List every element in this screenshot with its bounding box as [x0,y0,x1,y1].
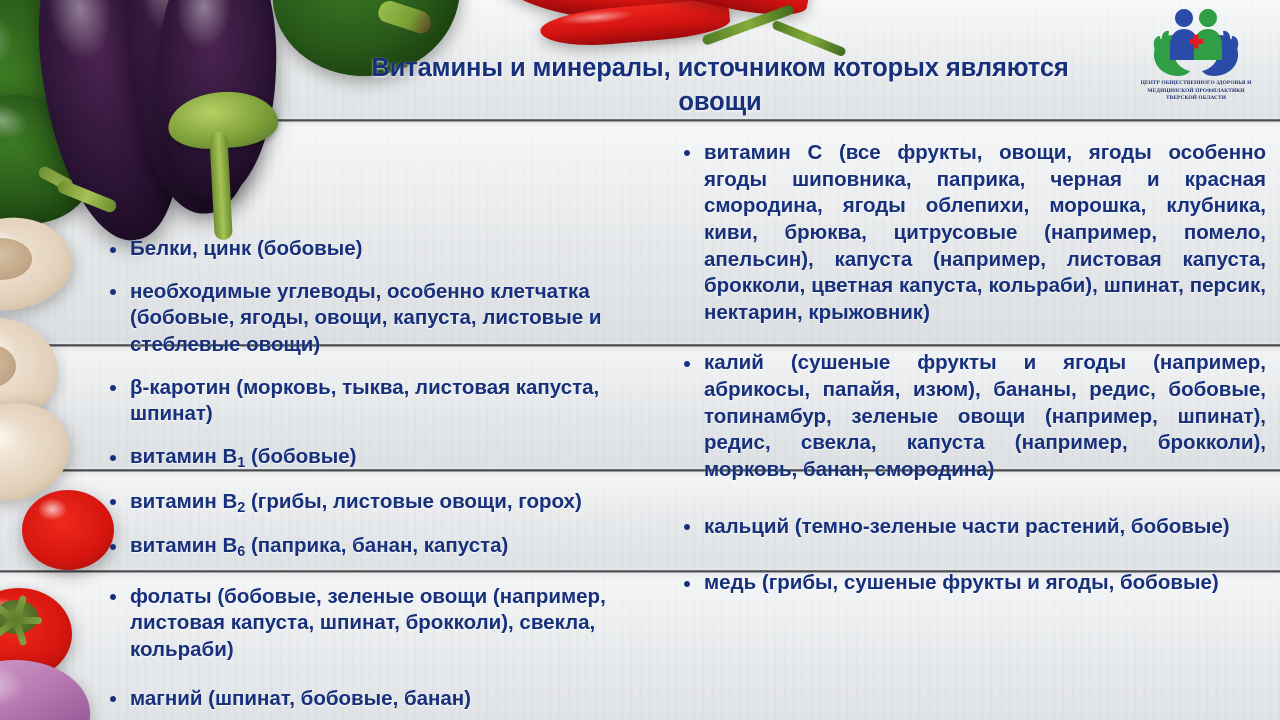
list-item: Белки, цинк (бобовые) [104,236,686,263]
list-item: β-каротин (морковь, тыква, листовая капу… [104,375,686,428]
tomato-calyx-icon [0,600,38,634]
list-item: необходимые углеводы, особенно клетчатка… [104,279,686,359]
list-item-label-after: (грибы, листовые овощи, горох) [245,490,582,513]
list-item: магний (шпинат, бобовые, банан) [104,686,686,713]
red-chili-pepper-icon [498,0,713,36]
mushroom-gill-icon [0,238,32,280]
logo-mark-icon [1148,6,1244,80]
left-content-column: Белки, цинк (бобовые) необходимые углево… [104,236,686,720]
tomato-icon [22,490,114,570]
page-title: Витамины и минералы, источником которых … [330,52,1110,120]
list-item-label-before: витамин В [130,445,237,468]
list-item-label: калий (сушеные фрукты и ягоды (например,… [704,351,1266,481]
list-item-label-before: витамин В [130,490,237,513]
mushroom-icon [0,312,63,428]
list-item: кальций (темно-зеленые части растений, б… [678,514,1266,541]
eggplant-icon [151,0,282,203]
eggplant-icon [20,0,200,250]
list-item-label: необходимые углеводы, особенно клетчатка… [130,280,601,356]
list-item-label: медь (грибы, сушеные фрукты и ягоды, боб… [704,571,1219,594]
eggplant-stem-icon [56,179,118,214]
list-item-label: витамин С (все фрукты, овощи, ягоды особ… [704,141,1266,324]
tomato-icon [0,588,72,680]
list-item-label: магний (шпинат, бобовые, банан) [130,687,471,710]
eggplant-icon [117,0,270,218]
mushroom-gill-icon [0,344,16,388]
list-item-label: кальций (темно-зеленые части растений, б… [704,515,1230,538]
red-chili-pepper-icon [539,0,731,50]
list-item: витамин С (все фрукты, овощи, ягоды особ… [678,140,1266,326]
list-item-label: β-каротин (морковь, тыква, листовая капу… [130,376,599,426]
green-pepper-icon [0,79,107,241]
eggplant-stalk-icon [209,132,233,241]
pepper-stem-icon [376,0,434,36]
list-item-label-after: (бобовые) [245,445,356,468]
purple-onion-icon [0,660,90,720]
list-item: фолаты (бобовые, зеленые овощи (например… [104,584,686,664]
list-item-label: Белки, цинк (бобовые) [130,237,363,260]
mushroom-icon [0,210,78,319]
list-item-label: фолаты (бобовые, зеленые овощи (например… [130,585,606,661]
list-item: калий (сушеные фрукты и ягоды (например,… [678,350,1266,483]
list-item: витамин В6 (паприка, банан, капуста) [104,533,686,562]
chili-stem-icon [701,4,795,46]
list-item-label-before: витамин В [130,534,237,557]
mushroom-icon [0,391,80,512]
list-item: медь (грибы, сушеные фрукты и ягоды, боб… [678,570,1266,597]
logo-caption: ЦЕНТР ОБЩЕСТВЕННОГО ЗДОРОВЬЯ И МЕДИЦИНСК… [1122,80,1270,103]
slide-root: ЦЕНТР ОБЩЕСТВЕННОГО ЗДОРОВЬЯ И МЕДИЦИНСК… [0,0,1280,720]
green-pepper-icon [0,0,141,222]
right-content-column: витамин С (все фрукты, овощи, ягоды особ… [678,140,1266,617]
health-center-logo: ЦЕНТР ОБЩЕСТВЕННОГО ЗДОРОВЬЯ И МЕДИЦИНСК… [1122,6,1270,110]
list-item: витамин В2 (грибы, листовые овощи, горох… [104,489,686,518]
list-item-label-after: (паприка, банан, капуста) [245,534,508,557]
list-item: витамин В1 (бобовые) [104,444,686,473]
red-chili-pepper-icon [608,0,813,24]
pepper-stem-icon [37,165,96,204]
